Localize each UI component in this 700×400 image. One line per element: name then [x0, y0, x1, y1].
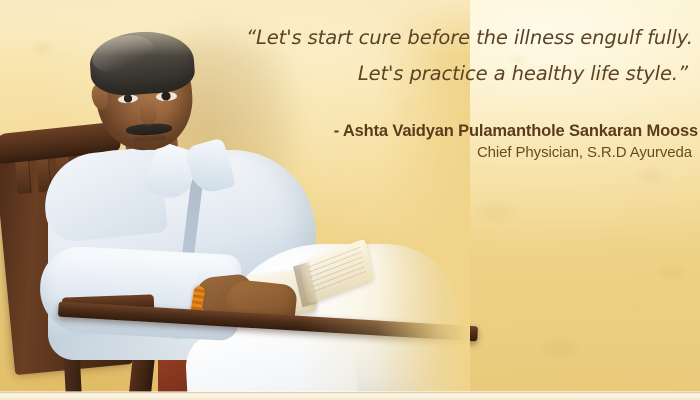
quote-text: “Let's start cure before the illness eng… [246, 28, 692, 83]
bottom-strip [0, 392, 700, 400]
quote-line-1: “Let's start cure before the illness eng… [246, 28, 692, 48]
attribution-role: Chief Physician, S.R.D Ayurveda [246, 144, 692, 162]
quote-banner: “Let's start cure before the illness eng… [0, 0, 700, 400]
attribution-name: - Ashta Vaidyan Pulamanthole Sankaran Mo… [246, 122, 698, 140]
subject-nose [140, 100, 157, 126]
quote-line-2: Let's practice a healthy life style.” [246, 64, 688, 84]
